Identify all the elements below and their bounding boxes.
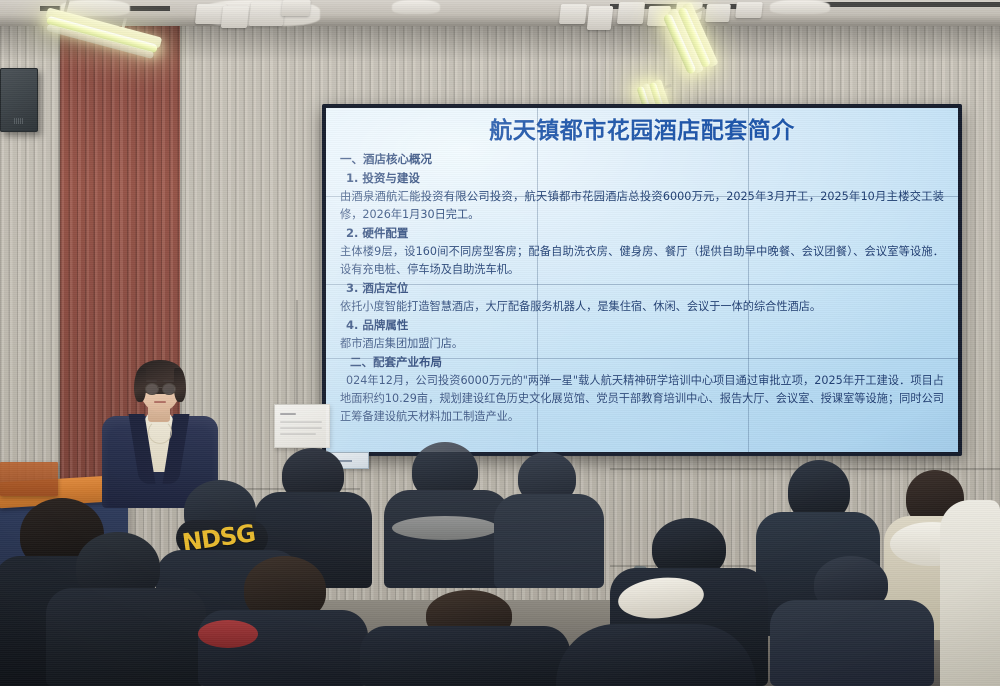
wall-notice-sheet	[274, 404, 330, 448]
slide-paragraph-2-1: 024年12月，公司投资6000万元的"两弹一星"载人航天精神研学培训中心项目通…	[340, 372, 944, 426]
slide-heading-1-4: 4. 品牌属性	[340, 317, 944, 335]
ceiling-vent	[735, 2, 763, 18]
ceiling-duct	[770, 0, 830, 14]
ceiling-rail	[810, 2, 1000, 7]
ceiling-vent	[281, 0, 311, 16]
audience-coat	[46, 588, 206, 686]
audience-member-14	[556, 624, 756, 686]
audience-hood-collar	[392, 516, 498, 540]
video-wall-screen[interactable]: 航天镇都市花园酒店配套简介 一、酒店核心概况 1. 投资与建设 由酒泉酒航汇能投…	[326, 108, 958, 452]
presenter-necklace	[148, 420, 172, 444]
ceiling-vent	[617, 2, 645, 24]
audience-member-2	[46, 532, 206, 686]
slide-heading-1-2: 2. 硬件配置	[340, 225, 944, 243]
audience-member-5	[384, 442, 510, 588]
ceiling-vent	[221, 6, 249, 28]
audience-coat	[494, 494, 604, 588]
presenter-hair-side-right	[174, 368, 186, 402]
audience-member-10	[360, 590, 570, 686]
presenter-brow-right	[163, 380, 174, 382]
presenter-mouth	[154, 401, 166, 403]
presentation-slide: 航天镇都市花园酒店配套简介 一、酒店核心概况 1. 投资与建设 由酒泉酒航汇能投…	[326, 108, 958, 452]
ceiling-vent	[559, 4, 587, 24]
audience-member-8	[770, 556, 934, 686]
ceiling-vent	[587, 6, 614, 30]
slide-heading-2: 二、配套产业布局	[340, 354, 944, 372]
audience-member-9	[198, 556, 368, 686]
video-wall-frame: 航天镇都市花园酒店配套简介 一、酒店核心概况 1. 投资与建设 由酒泉酒航汇能投…	[322, 104, 962, 456]
ceiling-vent	[249, 2, 286, 26]
conference-room-photo: 航天镇都市花园酒店配套简介 一、酒店核心概况 1. 投资与建设 由酒泉酒航汇能投…	[0, 0, 1000, 686]
audience-hood-collar	[198, 620, 258, 648]
audience-coat	[770, 600, 934, 686]
audience-coat	[940, 500, 1000, 686]
audience-coat	[556, 624, 756, 686]
podium-front-trim	[0, 462, 58, 496]
wall-speaker-icon	[0, 68, 38, 132]
presenter-glasses-left-lens	[145, 383, 159, 395]
slide-heading-1: 一、酒店核心概况	[340, 151, 944, 169]
ceiling-duct	[392, 0, 440, 14]
presenter-glasses-bridge	[157, 387, 162, 388]
ceiling-vent	[705, 4, 731, 22]
audience-member-13	[940, 500, 1000, 686]
slide-paragraph-1-4: 都市酒店集团加盟门店。	[340, 335, 944, 353]
audience-coat	[360, 626, 570, 686]
slide-paragraph-1-3: 依托小度智能打造智慧酒店，大厅配备服务机器人，是集住宿、休闲、会议于一体的综合性…	[340, 298, 944, 316]
slide-heading-1-3: 3. 酒店定位	[340, 280, 944, 298]
presenter-glasses-right-lens	[162, 383, 176, 395]
audience-member-6	[494, 452, 604, 588]
slide-paragraph-1-1: 由酒泉酒航汇能投资有限公司投资，航天镇都市花园酒店总投资6000万元，2025年…	[340, 188, 944, 224]
slide-paragraph-1-2: 主体楼9层，设160间不同房型客房；配备自助洗衣房、健身房、餐厅（提供自助早中晚…	[340, 243, 944, 279]
presenter-hair-side-left	[134, 368, 146, 402]
presenter-brow-left	[146, 380, 157, 382]
slide-heading-1-1: 1. 投资与建设	[340, 170, 944, 188]
slide-title: 航天镇都市花园酒店配套简介	[340, 118, 944, 144]
wall-seam	[58, 22, 60, 492]
